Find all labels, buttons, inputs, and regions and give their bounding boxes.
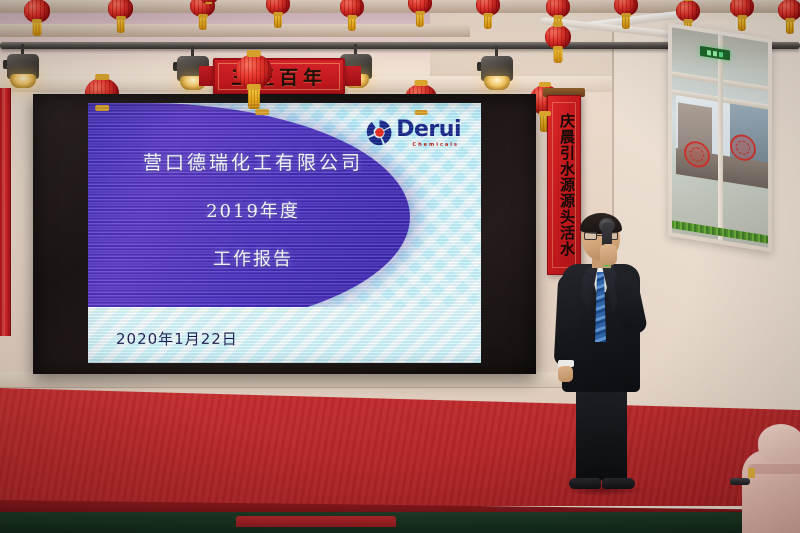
exit-sign <box>700 46 730 61</box>
speaker-leg-right <box>601 386 627 482</box>
aluminium-sliding-window <box>668 23 772 252</box>
left-wall-banner-sheen <box>2 88 5 336</box>
derui-logo: Derui Chemicals <box>366 119 461 148</box>
derui-wordmark: Derui <box>396 119 461 141</box>
ceiling-lantern <box>108 0 133 27</box>
speaker-shoe-left <box>569 478 601 489</box>
ceiling-lantern <box>778 0 800 28</box>
stage-light <box>480 52 514 92</box>
audience-badge <box>748 468 755 478</box>
audience-handheld-object <box>730 478 750 485</box>
speaker-shoe-right <box>602 478 635 489</box>
slide-company-name: 营口德瑞化工有限公司 <box>143 148 363 175</box>
led-video-wall[interactable]: 营口德瑞化工有限公司 2019年度 工作报告 2020年1月22日 Deru <box>33 94 536 374</box>
audience-jacket <box>742 450 800 533</box>
speaker-leg-left <box>576 386 601 482</box>
ceiling-lantern <box>200 0 218 9</box>
floor-red-strip <box>236 516 396 527</box>
ceiling-lantern <box>476 0 500 23</box>
ceiling-lantern <box>408 0 432 21</box>
derui-logo-text: Derui Chemicals <box>396 119 461 148</box>
audience-head <box>758 424 800 462</box>
couplet-lantern <box>545 22 571 57</box>
ceiling-lantern <box>266 0 290 22</box>
slide-report-line: 工作报告 <box>213 245 293 271</box>
speaker-hand-right <box>600 244 617 265</box>
presentation-hall-photo: 三正百年 营口德瑞化工有限公司 2019年度 工作报告 2020年1月22日 <box>0 0 800 533</box>
stage-light <box>6 50 40 90</box>
ceiling-lantern <box>730 0 754 25</box>
speaker-presenter <box>540 216 660 506</box>
speaker-glasses <box>584 232 618 240</box>
window-glass <box>672 27 768 247</box>
ceiling-lantern <box>24 0 50 30</box>
slide-date: 2020年1月22日 <box>116 328 238 349</box>
derui-tagline: Chemicals <box>412 142 459 148</box>
green-floor <box>0 512 800 533</box>
truss-lantern-front <box>236 50 272 100</box>
ceiling-lantern <box>340 0 364 25</box>
speaker-hand-left <box>558 366 573 382</box>
celebration-banner: 三正百年 <box>213 58 345 95</box>
derui-circle-mark-icon <box>366 119 393 146</box>
ceiling-lantern <box>614 0 638 23</box>
ceiling-beam-mid <box>0 24 470 37</box>
banner-right-wing <box>345 66 361 86</box>
speaker-arm-left <box>554 273 583 366</box>
audience-member <box>742 424 800 533</box>
slide-year-line: 2019年度 <box>206 197 300 223</box>
window-mullion-vertical <box>718 35 723 241</box>
presentation-slide: 营口德瑞化工有限公司 2019年度 工作报告 2020年1月22日 Deru <box>88 103 481 363</box>
audience-collar <box>748 464 800 474</box>
